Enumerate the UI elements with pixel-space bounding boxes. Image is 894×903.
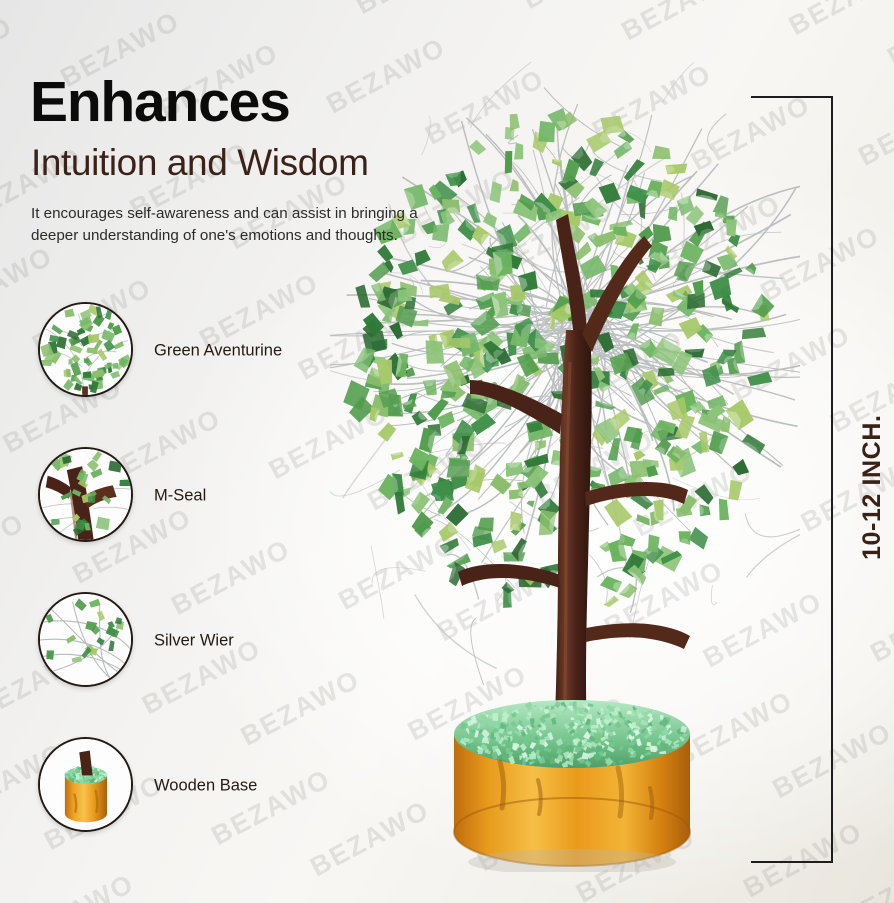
callout-label: Wooden Base bbox=[154, 777, 257, 796]
feature-callout-silver-wier: Silver Wier bbox=[38, 592, 222, 690]
feature-callout-wooden-base: Wooden Base bbox=[38, 737, 222, 835]
page-title: Enhances bbox=[30, 74, 290, 131]
dimension-cap-top bbox=[751, 96, 833, 98]
callout-label: M-Seal bbox=[154, 487, 206, 506]
trunk-joint-closeup-icon bbox=[38, 447, 133, 542]
wooden-base-closeup-icon bbox=[38, 737, 133, 832]
gem-leaves-closeup-icon bbox=[38, 302, 133, 397]
feature-callout-green-aventurine: Green Aventurine bbox=[38, 302, 222, 400]
feature-callout-m-seal: M-Seal bbox=[38, 447, 222, 545]
dimension-label: 10-12 INCH. bbox=[858, 414, 887, 560]
dimension-line-vertical bbox=[831, 97, 833, 863]
silver-wire-closeup-icon bbox=[38, 592, 133, 687]
callout-label: Silver Wier bbox=[154, 632, 234, 651]
dimension-cap-bottom bbox=[751, 861, 833, 863]
callout-label: Green Aventurine bbox=[154, 342, 282, 361]
description-text: It encourages self-awareness and can ass… bbox=[31, 203, 421, 248]
product-image-gemstone-tree bbox=[330, 62, 800, 872]
infographic-canvas: BEZAWOBEZAWOBEZAWOBEZAWOBEZAWOBEZAWOBEZA… bbox=[0, 0, 894, 903]
page-subtitle: Intuition and Wisdom bbox=[31, 144, 369, 183]
